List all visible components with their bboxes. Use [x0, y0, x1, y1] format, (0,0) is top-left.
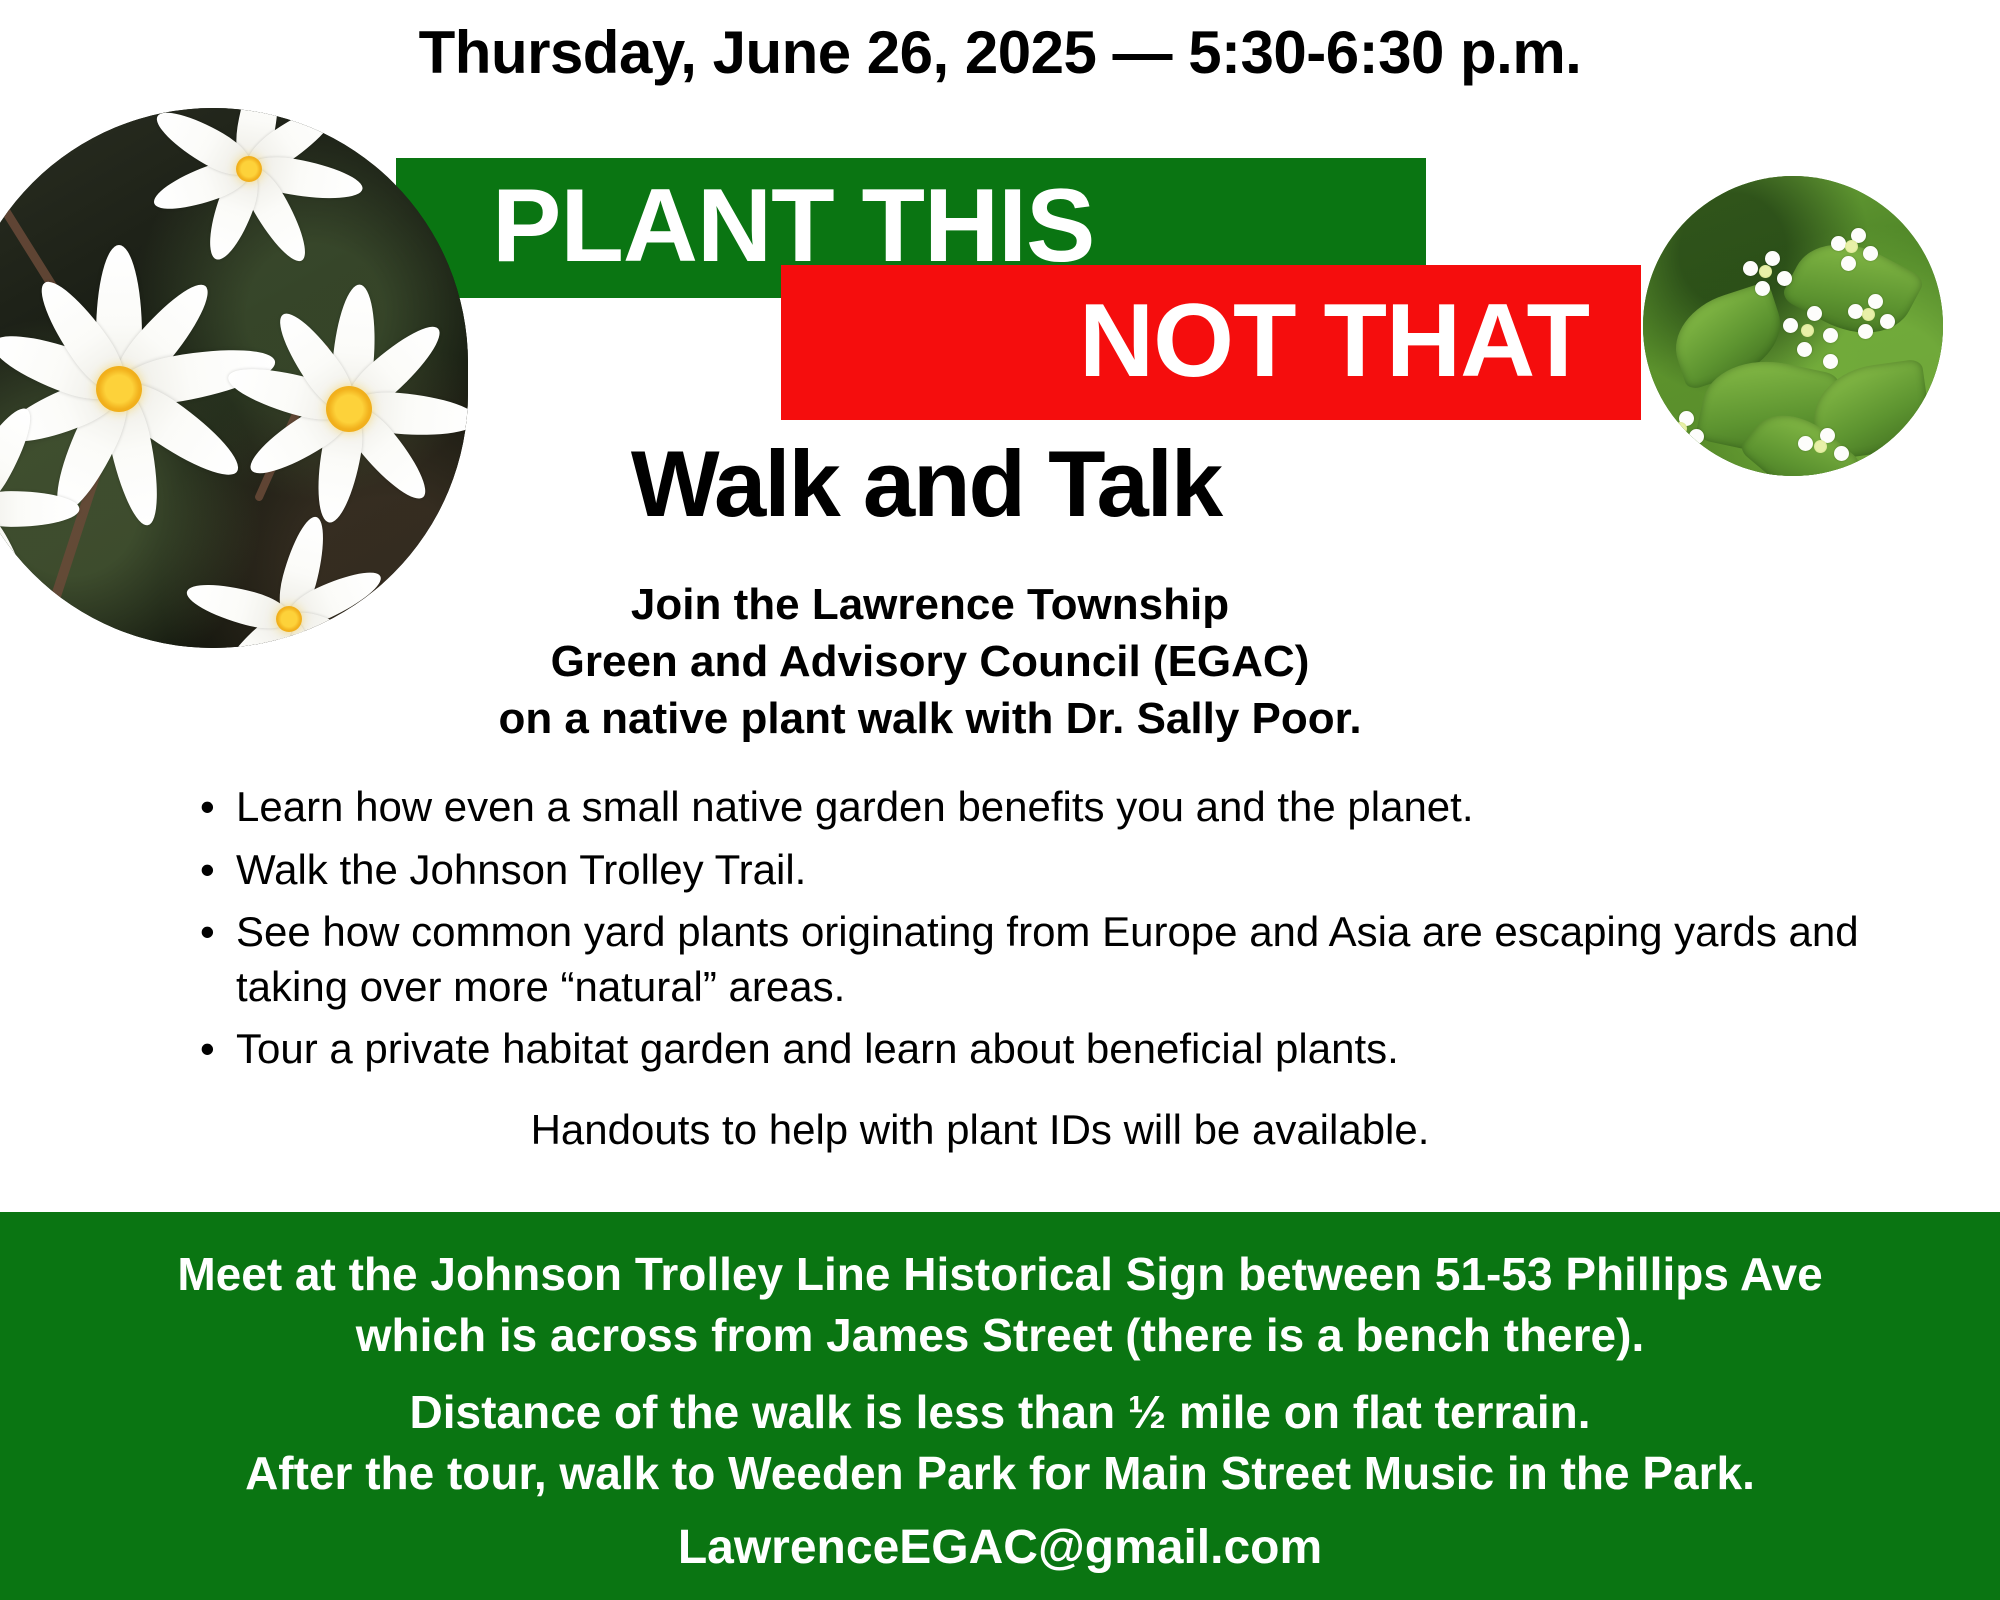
list-item: • Tour a private habitat garden and lear…: [200, 1022, 1860, 1077]
list-item-text: Tour a private habitat garden and learn …: [236, 1022, 1860, 1077]
bullet-list: • Learn how even a small native garden b…: [200, 780, 1860, 1085]
walk-distance-line-1: Distance of the walk is less than ½ mile…: [0, 1382, 2000, 1443]
list-item-text: Walk the Johnson Trolley Trail.: [236, 843, 1860, 898]
garlic-mustard-photo: [1643, 176, 1943, 476]
intro-paragraph: Join the Lawrence Township Green and Adv…: [330, 576, 1530, 748]
list-item: • Walk the Johnson Trolley Trail.: [200, 843, 1860, 898]
meeting-location-line-1: Meet at the Johnson Trolley Line Histori…: [0, 1244, 2000, 1305]
not-that-band: NOT THAT: [781, 265, 1641, 420]
bloodroot-photo: [0, 108, 468, 648]
event-date-header: Thursday, June 26, 2025 — 5:30-6:30 p.m.: [0, 18, 2000, 87]
handouts-note: Handouts to help with plant IDs will be …: [0, 1106, 1960, 1154]
flower-shape: [288, 618, 290, 620]
flower-shape: [248, 168, 250, 170]
not-that-label: NOT THAT: [781, 288, 1641, 392]
list-item: • See how common yard plants originating…: [200, 905, 1860, 1014]
walk-distance-line-2: After the tour, walk to Weeden Park for …: [0, 1443, 2000, 1504]
bullet-marker-icon: •: [200, 843, 236, 898]
meeting-location-line-2: which is across from James Street (there…: [0, 1305, 2000, 1366]
bullet-marker-icon: •: [200, 780, 236, 835]
bullet-marker-icon: •: [200, 905, 236, 960]
list-item-text: See how common yard plants originating f…: [236, 905, 1860, 1014]
intro-line-3: on a native plant walk with Dr. Sally Po…: [330, 690, 1530, 747]
meeting-location-block: Meet at the Johnson Trolley Line Histori…: [0, 1244, 2000, 1365]
walk-distance-block: Distance of the walk is less than ½ mile…: [0, 1382, 2000, 1503]
flyer-poster: Thursday, June 26, 2025 — 5:30-6:30 p.m.: [0, 0, 2000, 1600]
footer-details-panel: Meet at the Johnson Trolley Line Histori…: [0, 1212, 2000, 1600]
flower-shape: [348, 408, 350, 410]
contact-email-link[interactable]: LawrenceEGAC@gmail.com: [0, 1520, 2000, 1575]
bullet-marker-icon: •: [200, 1022, 236, 1077]
flower-shape: [118, 388, 120, 390]
list-item: • Learn how even a small native garden b…: [200, 780, 1860, 835]
plant-this-label: PLANT THIS: [396, 174, 1426, 278]
intro-line-2: Green and Advisory Council (EGAC): [330, 633, 1530, 690]
intro-line-1: Join the Lawrence Township: [330, 576, 1530, 633]
list-item-text: Learn how even a small native garden ben…: [236, 780, 1860, 835]
walk-and-talk-subtitle: Walk and Talk: [396, 430, 1456, 538]
